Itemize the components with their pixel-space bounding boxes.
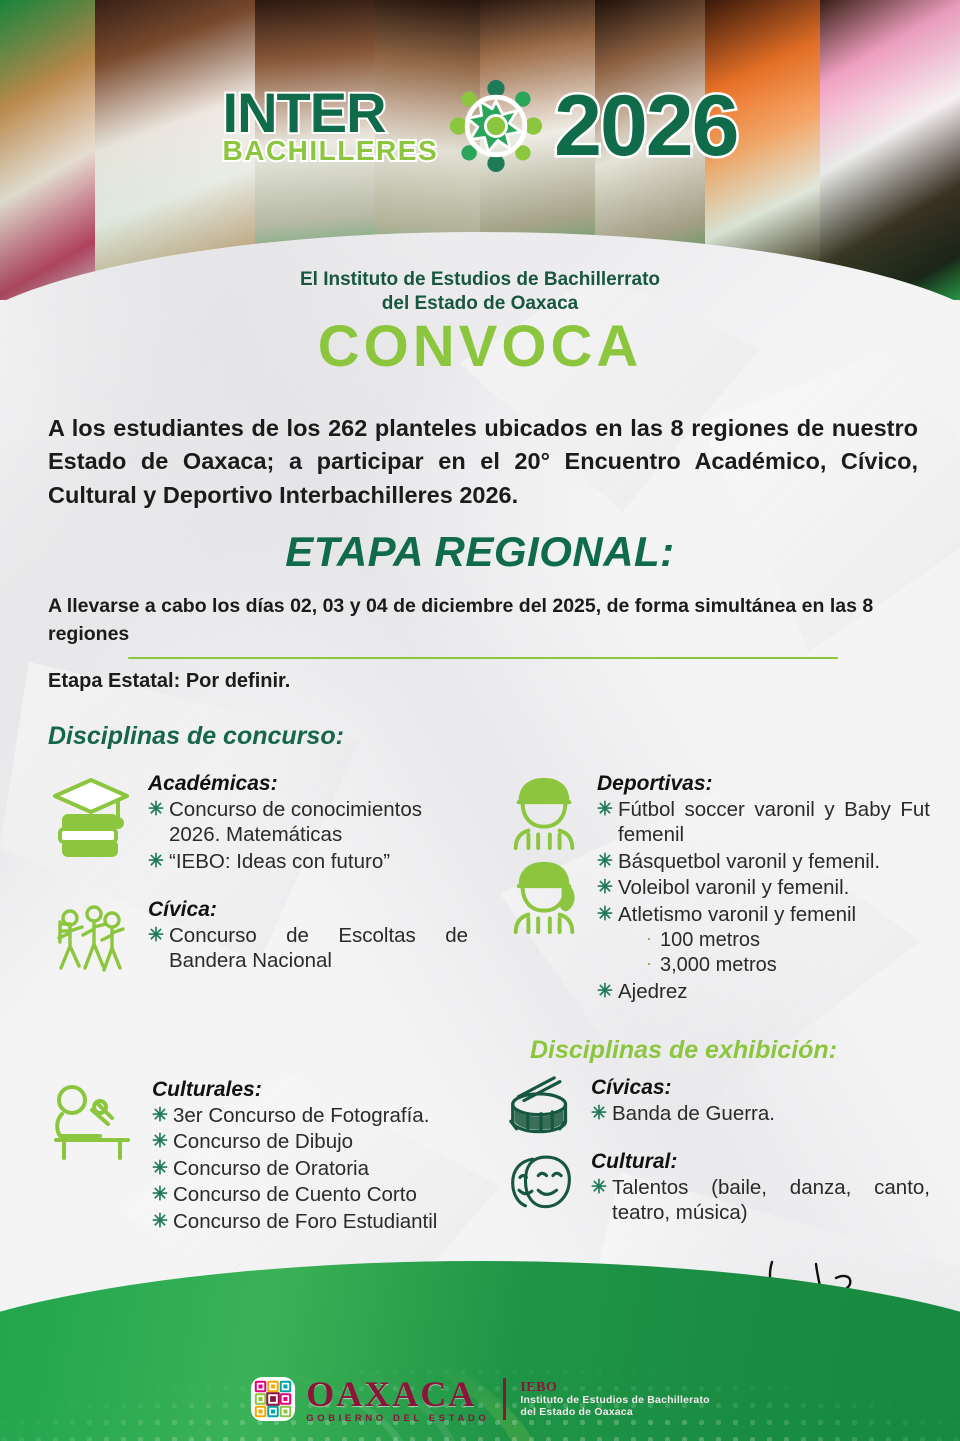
asterisk-bullet-icon: ✳ bbox=[597, 798, 613, 822]
culturales-icon-wrap bbox=[48, 1078, 138, 1235]
asterisk-bullet-icon: ✳ bbox=[597, 980, 613, 1004]
list-item: ·3,000 metros bbox=[644, 953, 930, 978]
list-item: ✳Concurso de Escoltas de Bandera Naciona… bbox=[148, 923, 468, 974]
list-item: ✳“IEBO: Ideas con futuro” bbox=[148, 849, 468, 874]
culturales-title: Culturales: bbox=[152, 1078, 478, 1102]
writing-desk-icon bbox=[48, 1078, 138, 1164]
asterisk-bullet-icon: ✳ bbox=[591, 1102, 607, 1126]
oaxaca-glyph-logo bbox=[250, 1376, 296, 1422]
flag-escort-icon bbox=[48, 898, 134, 984]
list-item: ✳Ajedrez bbox=[597, 979, 930, 1004]
asterisk-bullet-icon: ✳ bbox=[597, 876, 613, 900]
etapa-regional-title: ETAPA REGIONAL: bbox=[0, 528, 960, 576]
academicas-title: Académicas: bbox=[148, 772, 468, 796]
block-academicas: Académicas: ✳Concurso de conocimientos 2… bbox=[48, 772, 468, 875]
cultural-ex-icon-wrap bbox=[505, 1150, 577, 1227]
atletismo-sublist: ·100 metros ·3,000 metros bbox=[644, 928, 930, 978]
signatory-role: DIRECTOR GENERAL bbox=[618, 1344, 918, 1362]
female-athlete-icon bbox=[505, 856, 583, 934]
civicas-ex-list: ✳Banda de Guerra. bbox=[591, 1101, 930, 1126]
civicas-ex-icon-wrap bbox=[505, 1076, 577, 1142]
deportivas-title: Deportivas: bbox=[597, 772, 930, 796]
civica-icon-wrap bbox=[48, 898, 134, 984]
list-item: ✳3er Concurso de Fotografía. bbox=[152, 1103, 478, 1128]
dot-bullet-icon: · bbox=[646, 952, 652, 975]
asterisk-bullet-icon: ✳ bbox=[152, 1130, 168, 1154]
list-item: ✳Concurso de conocimientos 2026. Matemát… bbox=[148, 797, 468, 848]
theater-masks-icon bbox=[505, 1150, 577, 1214]
list-item: ✳Talentos (baile, danza, canto, teatro, … bbox=[591, 1175, 930, 1226]
deportivas-list: ✳Fútbol soccer varonil y Baby Fut femeni… bbox=[597, 797, 930, 1005]
institution-line-1: El Instituto de Estudios de Bachillerrat… bbox=[0, 268, 960, 292]
list-item: ✳Banda de Guerra. bbox=[591, 1101, 930, 1126]
asterisk-bullet-icon: ✳ bbox=[152, 1104, 168, 1128]
civica-title: Cívica: bbox=[148, 898, 468, 922]
iebo-wordmark: IEBO Instituto de Estudios de Bachillera… bbox=[520, 1380, 709, 1419]
list-item: ✳Básquetbol varonil y femenil. bbox=[597, 849, 930, 874]
asterisk-bullet-icon: ✳ bbox=[148, 850, 164, 874]
block-culturales: Culturales: ✳3er Concurso de Fotografía.… bbox=[48, 1078, 478, 1235]
male-athlete-icon bbox=[505, 772, 583, 850]
list-item: ✳Atletismo varonil y femenil ·100 metros… bbox=[597, 902, 930, 979]
civicas-ex-title: Cívicas: bbox=[591, 1076, 930, 1100]
list-item: ✳Concurso de Foro Estudiantil bbox=[152, 1209, 478, 1234]
etapa-regional-detail: A llevarse a cabo los días 02, 03 y 04 d… bbox=[48, 592, 918, 649]
asterisk-bullet-icon: ✳ bbox=[152, 1183, 168, 1207]
list-item: ✳Concurso de Dibujo bbox=[152, 1129, 478, 1154]
cultural-ex-body: Cultural: ✳Talentos (baile, danza, canto… bbox=[591, 1150, 930, 1227]
snare-drum-icon bbox=[505, 1076, 577, 1142]
convoca-title: CONVOCA bbox=[0, 318, 960, 376]
section-divider bbox=[128, 657, 838, 659]
oaxaca-wordmark: OAXACA GOBIERNO DEL ESTADO bbox=[306, 1376, 489, 1424]
academicas-body: Académicas: ✳Concurso de conocimientos 2… bbox=[148, 772, 468, 875]
footer-logo-row: OAXACA GOBIERNO DEL ESTADO IEBO Institut… bbox=[0, 1376, 960, 1424]
block-civica: Cívica: ✳Concurso de Escoltas de Bandera… bbox=[48, 898, 468, 984]
cultural-ex-title: Cultural: bbox=[591, 1150, 930, 1174]
disciplinas-concurso-heading: Disciplinas de concurso: bbox=[48, 722, 344, 751]
graduation-books-icon bbox=[48, 772, 134, 860]
oaxaca-tagline: GOBIERNO DEL ESTADO bbox=[306, 1414, 489, 1424]
block-exhibicion-civicas: Cívicas: ✳Banda de Guerra. bbox=[505, 1076, 930, 1142]
block-deportivas: Deportivas: ✳Fútbol soccer varonil y Bab… bbox=[505, 772, 930, 1006]
asterisk-bullet-icon: ✳ bbox=[597, 903, 613, 927]
asterisk-bullet-icon: ✳ bbox=[591, 1176, 607, 1200]
civica-list: ✳Concurso de Escoltas de Bandera Naciona… bbox=[148, 923, 468, 974]
signature-block: C.P. FRANCISCO JAVIER SALINAS HUERGO DIR… bbox=[618, 1326, 918, 1361]
signatory-name: C.P. FRANCISCO JAVIER SALINAS HUERGO bbox=[618, 1326, 918, 1344]
asterisk-bullet-icon: ✳ bbox=[152, 1210, 168, 1234]
deportivas-icon-wrap bbox=[505, 772, 583, 1006]
poster-content: El Instituto de Estudios de Bachillerrat… bbox=[0, 0, 960, 1441]
dot-bullet-icon: · bbox=[646, 927, 652, 950]
list-item: ·100 metros bbox=[644, 928, 930, 953]
asterisk-bullet-icon: ✳ bbox=[148, 924, 164, 948]
disciplinas-exhibicion-heading: Disciplinas de exhibición: bbox=[530, 1036, 837, 1065]
academicas-list: ✳Concurso de conocimientos 2026. Matemát… bbox=[148, 797, 468, 874]
culturales-body: Culturales: ✳3er Concurso de Fotografía.… bbox=[152, 1078, 478, 1235]
culturales-list: ✳3er Concurso de Fotografía. ✳Concurso d… bbox=[152, 1103, 478, 1234]
asterisk-bullet-icon: ✳ bbox=[152, 1157, 168, 1181]
oaxaca-name: OAXACA bbox=[306, 1376, 489, 1412]
block-exhibicion-cultural: Cultural: ✳Talentos (baile, danza, canto… bbox=[505, 1150, 930, 1227]
asterisk-bullet-icon: ✳ bbox=[148, 798, 164, 822]
list-item: ✳Concurso de Oratoria bbox=[152, 1156, 478, 1181]
academicas-icon-wrap bbox=[48, 772, 134, 875]
cultural-ex-list: ✳Talentos (baile, danza, canto, teatro, … bbox=[591, 1175, 930, 1226]
etapa-estatal-text: Etapa Estatal: Por definir. bbox=[48, 670, 290, 693]
iebo-acronym: IEBO bbox=[520, 1380, 709, 1396]
poster-canvas: INTER BACHILLERES 2026 bbox=[0, 0, 960, 1441]
iebo-line-2: del Estado de Oaxaca bbox=[520, 1407, 709, 1419]
list-item: ✳Concurso de Cuento Corto bbox=[152, 1182, 478, 1207]
asterisk-bullet-icon: ✳ bbox=[597, 850, 613, 874]
lead-paragraph: A los estudiantes de los 262 planteles u… bbox=[48, 412, 918, 512]
civica-body: Cívica: ✳Concurso de Escoltas de Bandera… bbox=[148, 898, 468, 984]
civicas-ex-body: Cívicas: ✳Banda de Guerra. bbox=[591, 1076, 930, 1142]
list-item: ✳Voleibol varonil y femenil. bbox=[597, 875, 930, 900]
deportivas-body: Deportivas: ✳Fútbol soccer varonil y Bab… bbox=[597, 772, 930, 1006]
institution-line-2: del Estado de Oaxaca bbox=[0, 292, 960, 316]
list-item: ✳Fútbol soccer varonil y Baby Fut femeni… bbox=[597, 797, 930, 848]
logo-divider bbox=[503, 1378, 506, 1420]
institution-name: El Instituto de Estudios de Bachillerrat… bbox=[0, 268, 960, 317]
